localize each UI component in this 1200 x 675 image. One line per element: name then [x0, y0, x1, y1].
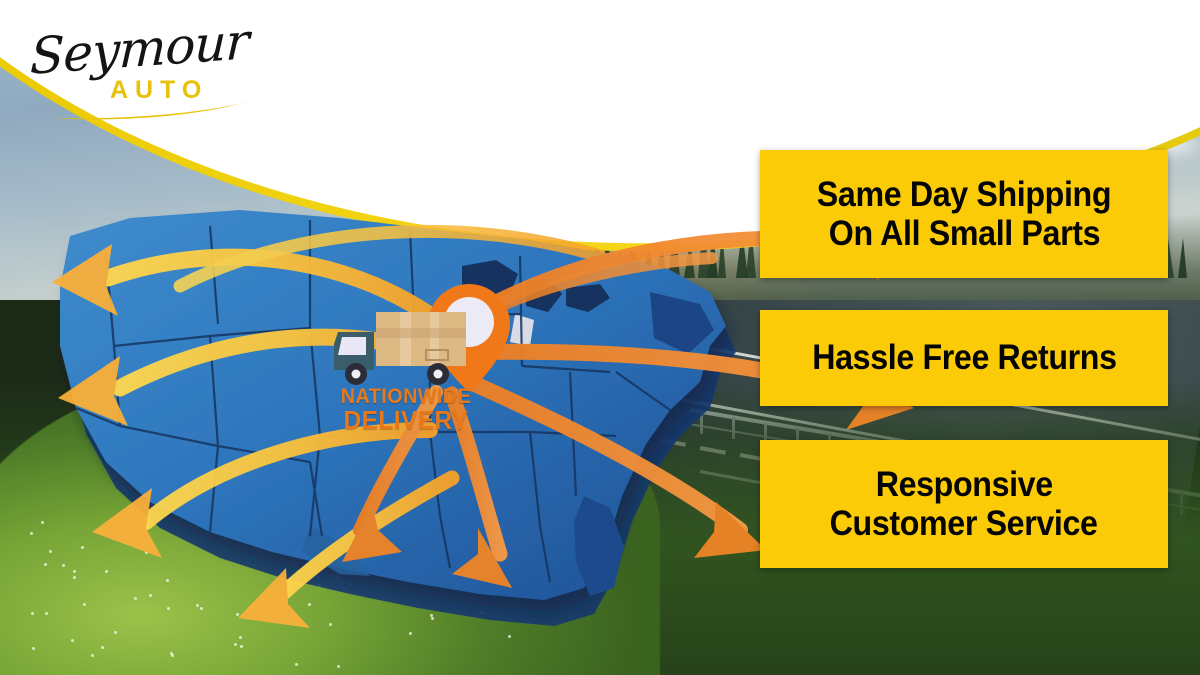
callout-same-day-shipping[interactable]: Same Day Shipping On All Small Parts [760, 150, 1168, 278]
callout-line: Hassle Free Returns [812, 338, 1116, 377]
logo-swoosh-icon [52, 100, 248, 122]
callout-responsive-customer-service[interactable]: Responsive Customer Service [760, 440, 1168, 568]
badge-line-1: NATIONWIDE [335, 386, 478, 407]
callout-line: Same Day Shipping [817, 175, 1111, 214]
nationwide-delivery-badge: NATIONWIDE DELIVERY [330, 282, 520, 450]
badge-caption: NATIONWIDE DELIVERY [330, 386, 482, 434]
callout-line: Responsive [875, 465, 1052, 504]
callout-line: On All Small Parts [828, 214, 1099, 253]
callout-line: Customer Service [830, 504, 1098, 543]
promo-banner: NATIONWIDE DELIVERY Seymour AUTO Same Da… [0, 0, 1200, 675]
logo-wordmark: Seymour [29, 12, 249, 86]
badge-line-2: DELIVERY [335, 407, 478, 434]
delivery-truck-icon [330, 306, 478, 390]
callout-hassle-free-returns[interactable]: Hassle Free Returns [760, 310, 1168, 406]
seymour-auto-logo[interactable]: Seymour AUTO [24, 14, 254, 126]
